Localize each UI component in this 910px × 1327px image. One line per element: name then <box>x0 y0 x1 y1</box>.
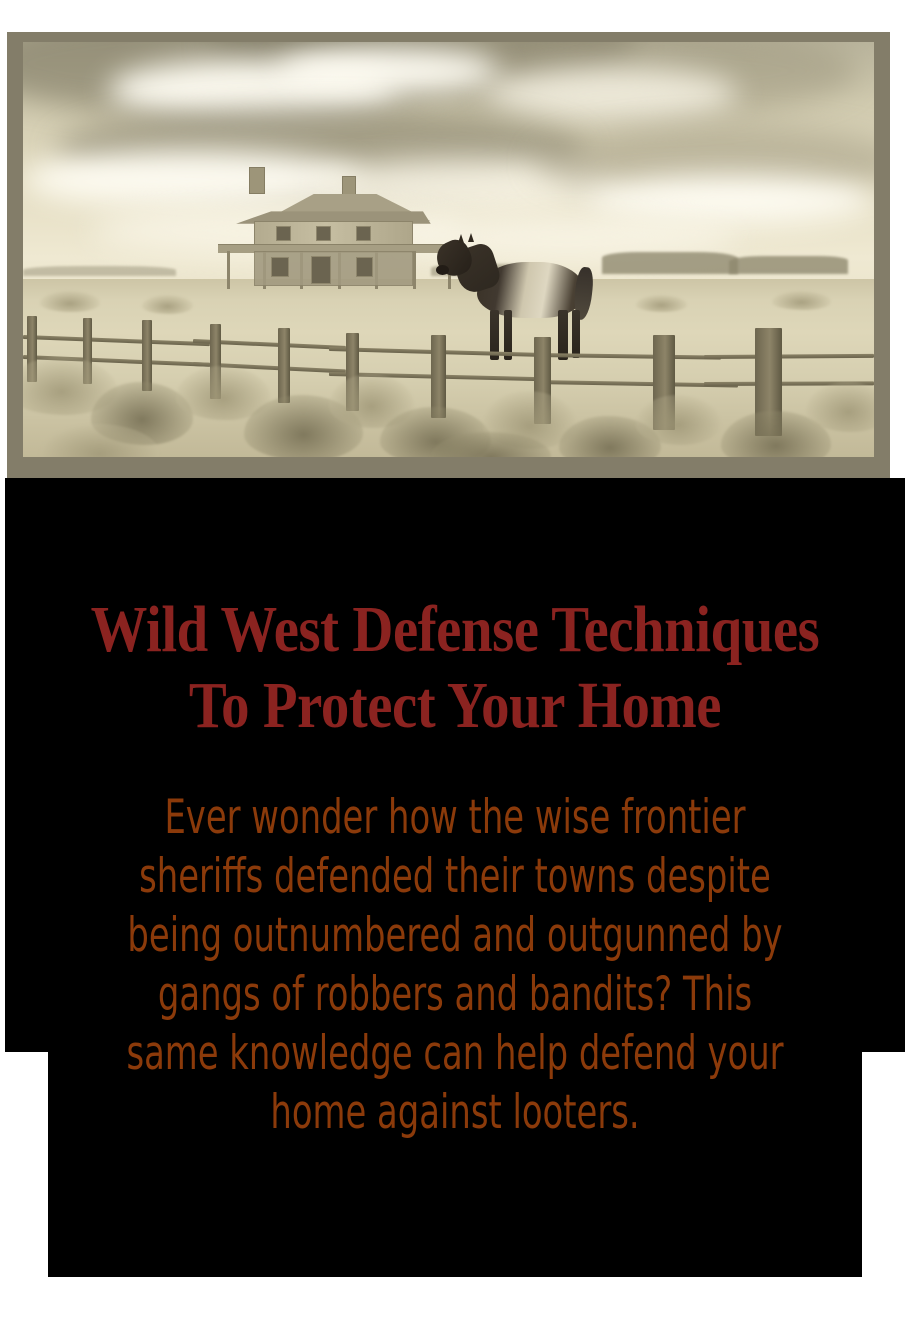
window-icon <box>356 226 371 241</box>
farmhouse-icon <box>227 167 448 292</box>
door-icon <box>311 256 331 283</box>
article-text-layer: Wild West Defense Techniques To Protect … <box>0 478 910 1327</box>
mesa-icon <box>602 252 738 275</box>
pinto-horse-icon <box>436 233 606 366</box>
sagebrush-icon <box>142 295 193 314</box>
chimney-icon <box>249 167 264 194</box>
sagebrush-icon <box>40 291 100 312</box>
cloud-highlight-icon <box>278 46 499 96</box>
hero-photograph <box>23 42 874 457</box>
window-icon <box>316 226 331 241</box>
mesa-icon <box>729 256 848 275</box>
window-icon <box>271 257 289 277</box>
horse-hindleg <box>572 310 581 358</box>
chimney-icon <box>342 176 355 196</box>
fence-post-icon <box>431 335 445 418</box>
hero-image-frame <box>7 32 890 478</box>
cloud-highlight-icon <box>483 67 738 121</box>
porch-post-icon <box>227 251 230 288</box>
horse-ear-icon <box>458 234 464 243</box>
page-title: Wild West Defense Techniques To Protect … <box>64 478 847 744</box>
fence-post-icon <box>278 328 290 403</box>
window-icon <box>276 226 291 241</box>
window-icon <box>356 257 374 277</box>
sagebrush-icon <box>772 291 832 310</box>
fence-post-icon <box>142 320 152 391</box>
article-body-text: Ever wonder how the wise frontier sherif… <box>91 744 819 1142</box>
porch-post-icon <box>413 251 416 288</box>
mesa-icon <box>23 266 176 276</box>
sagebrush-icon <box>636 295 687 312</box>
horse-ear-icon <box>468 233 474 242</box>
